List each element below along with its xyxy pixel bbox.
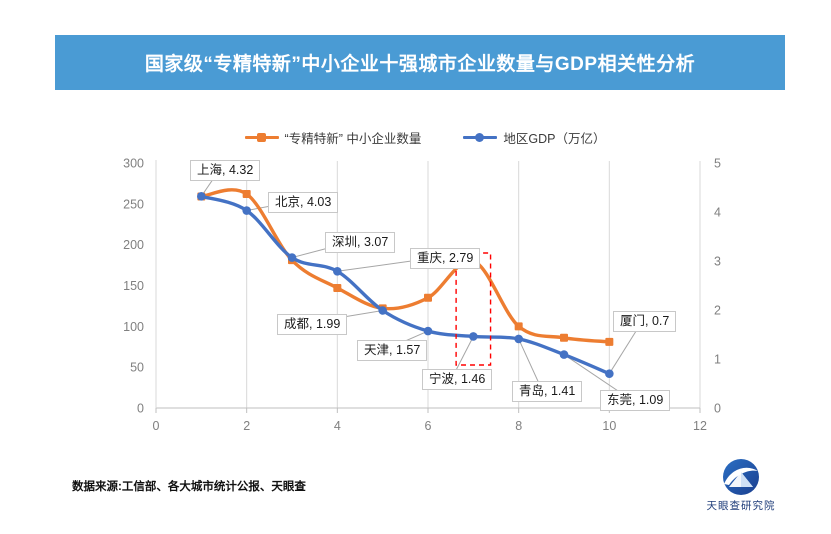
x-axis-tick-label: 4 <box>334 419 341 433</box>
data-source-note: 数据来源:工信部、各大城市统计公报、天眼查 <box>72 478 306 494</box>
city-callout-label: 东莞, 1.09 <box>600 390 670 411</box>
series-line-enterprise-count <box>201 190 609 342</box>
brand-logo-text: 天眼查研究院 <box>707 498 776 513</box>
y-axis-left-tick-label: 200 <box>123 238 144 252</box>
city-callout-label: 厦门, 0.7 <box>613 311 676 332</box>
x-axis-tick-label: 12 <box>693 419 707 433</box>
y-axis-right-tick-label: 4 <box>714 206 721 220</box>
tianyancha-eye-icon <box>713 458 769 496</box>
data-point-marker[interactable] <box>424 327 433 336</box>
x-axis-tick-label: 2 <box>243 419 250 433</box>
y-axis-left-tick-label: 250 <box>123 197 144 211</box>
x-axis-tick-label: 8 <box>515 419 522 433</box>
peak-highlight-rect <box>456 253 490 365</box>
data-point-marker[interactable] <box>379 304 387 312</box>
y-axis-right-tick-label: 0 <box>714 402 721 416</box>
y-axis-right-tick-label: 1 <box>714 353 721 367</box>
y-axis-left-tick-label: 50 <box>130 361 144 375</box>
legend-marker-orange-icon <box>245 131 279 143</box>
data-point-marker[interactable] <box>288 253 297 262</box>
legend-label-region-gdp: 地区GDP（万亿） <box>503 128 605 147</box>
slide-canvas: 国家级“专精特新”中小企业十强城市企业数量与GDP相关性分析 “专精特新” 中小… <box>0 0 831 534</box>
data-point-marker[interactable] <box>514 335 523 344</box>
data-point-marker[interactable] <box>243 190 251 198</box>
city-callout-label: 青岛, 1.41 <box>512 381 582 402</box>
city-callout-label: 上海, 4.32 <box>190 160 260 181</box>
data-point-marker[interactable] <box>333 284 341 292</box>
data-point-marker[interactable] <box>605 369 614 378</box>
y-axis-left-tick-label: 0 <box>137 402 144 416</box>
brand-logo: 天眼查研究院 <box>693 458 789 518</box>
city-callout-label: 重庆, 2.79 <box>410 248 480 269</box>
y-axis-left-tick-label: 300 <box>123 157 144 171</box>
x-axis-tick-label: 10 <box>602 419 616 433</box>
data-point-marker[interactable] <box>424 294 432 302</box>
city-callout-label: 宁波, 1.46 <box>422 369 492 390</box>
y-axis-right-tick-label: 2 <box>714 304 721 318</box>
data-point-marker[interactable] <box>242 206 251 215</box>
x-axis-tick-label: 0 <box>153 419 160 433</box>
data-point-marker[interactable] <box>333 267 342 276</box>
data-point-marker[interactable] <box>197 192 205 200</box>
legend-item-region-gdp[interactable]: 地区GDP（万亿） <box>463 128 605 147</box>
y-axis-left-tick-label: 100 <box>123 320 144 334</box>
chart-legend: “专精特新” 中小企业数量 地区GDP（万亿） <box>155 126 695 148</box>
y-axis-right-tick-label: 5 <box>714 157 721 171</box>
legend-marker-blue-icon <box>463 131 497 143</box>
legend-label-enterprise-count: “专精特新” 中小企业数量 <box>285 128 422 147</box>
title-banner: 国家级“专精特新”中小企业十强城市企业数量与GDP相关性分析 <box>55 35 785 90</box>
city-callout-label: 天津, 1.57 <box>357 340 427 361</box>
data-point-marker[interactable] <box>515 322 523 330</box>
data-point-marker[interactable] <box>605 338 613 346</box>
data-point-marker[interactable] <box>288 256 296 264</box>
data-point-marker[interactable] <box>197 192 206 201</box>
data-point-marker[interactable] <box>469 332 478 341</box>
city-callout-label: 成都, 1.99 <box>277 314 347 335</box>
city-callout-label: 北京, 4.03 <box>268 192 338 213</box>
y-axis-left-tick-label: 150 <box>123 279 144 293</box>
data-point-marker[interactable] <box>560 334 568 342</box>
x-axis-tick-label: 6 <box>425 419 432 433</box>
data-point-marker[interactable] <box>378 306 387 315</box>
page-title: 国家级“专精特新”中小企业十强城市企业数量与GDP相关性分析 <box>145 49 695 76</box>
y-axis-right-tick-label: 3 <box>714 255 721 269</box>
legend-item-enterprise-count[interactable]: “专精特新” 中小企业数量 <box>245 128 422 147</box>
data-point-marker[interactable] <box>560 350 569 359</box>
city-callout-label: 深圳, 3.07 <box>325 232 395 253</box>
